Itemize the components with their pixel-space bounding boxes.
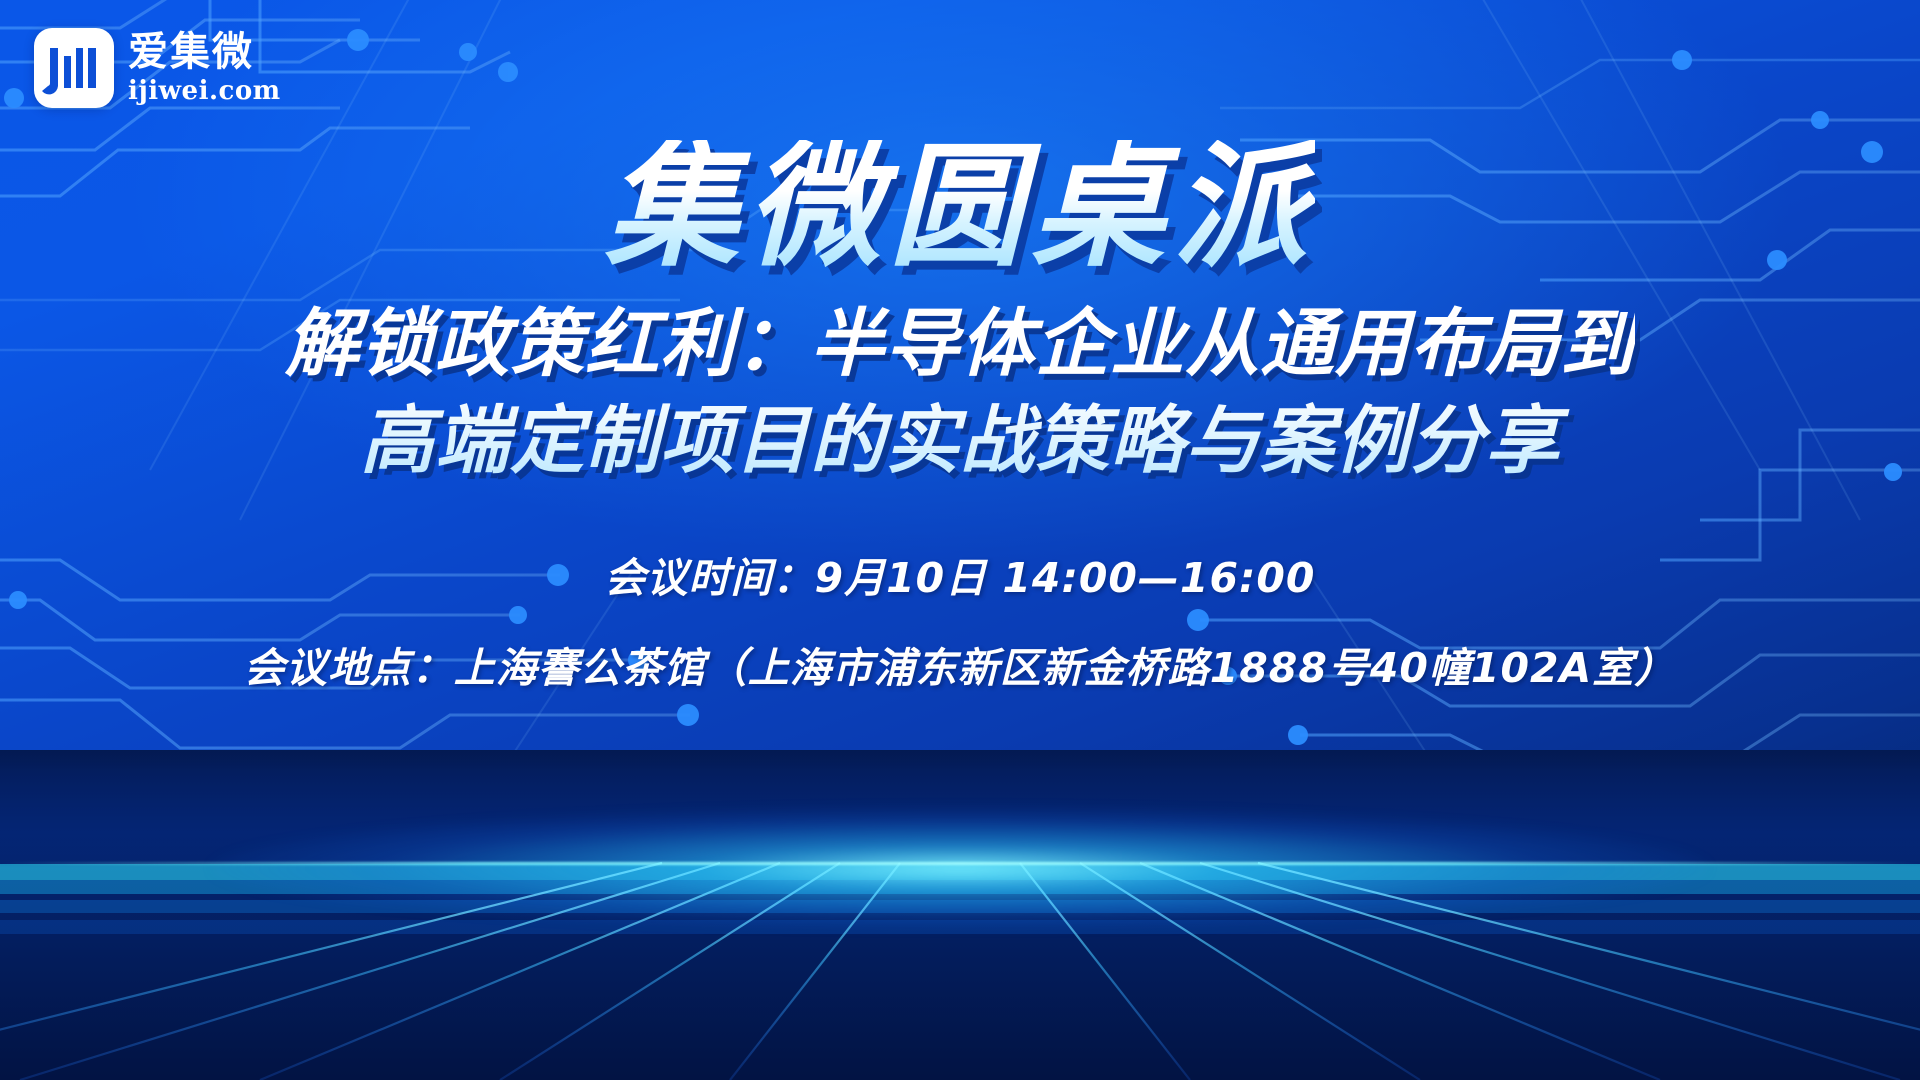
- poster-subtitle: 解锁政策红利：半导体企业从通用布局到 高端定制项目的实战策略与案例分享: [285, 300, 1635, 486]
- event-details: 会议时间：9月10日 14:00—16:00 会议地点：上海謇公茶馆（上海市浦东…: [244, 544, 1676, 694]
- meeting-time: 会议时间：9月10日 14:00—16:00: [244, 544, 1676, 604]
- event-poster: 爱集微 ijiwei.com 集微圆桌派 解锁政策红利：半导体企业从通用布局到 …: [0, 0, 1920, 1080]
- poster-content: 集微圆桌派 解锁政策红利：半导体企业从通用布局到 高端定制项目的实战策略与案例分…: [0, 0, 1920, 1080]
- subtitle-line-2: 高端定制项目的实战策略与案例分享: [285, 397, 1635, 486]
- subtitle-line-1: 解锁政策红利：半导体企业从通用布局到: [285, 300, 1635, 389]
- page-title: 集微圆桌派: [605, 140, 1315, 274]
- meeting-place: 会议地点：上海謇公茶馆（上海市浦东新区新金桥路1888号40幢102A室）: [244, 634, 1676, 694]
